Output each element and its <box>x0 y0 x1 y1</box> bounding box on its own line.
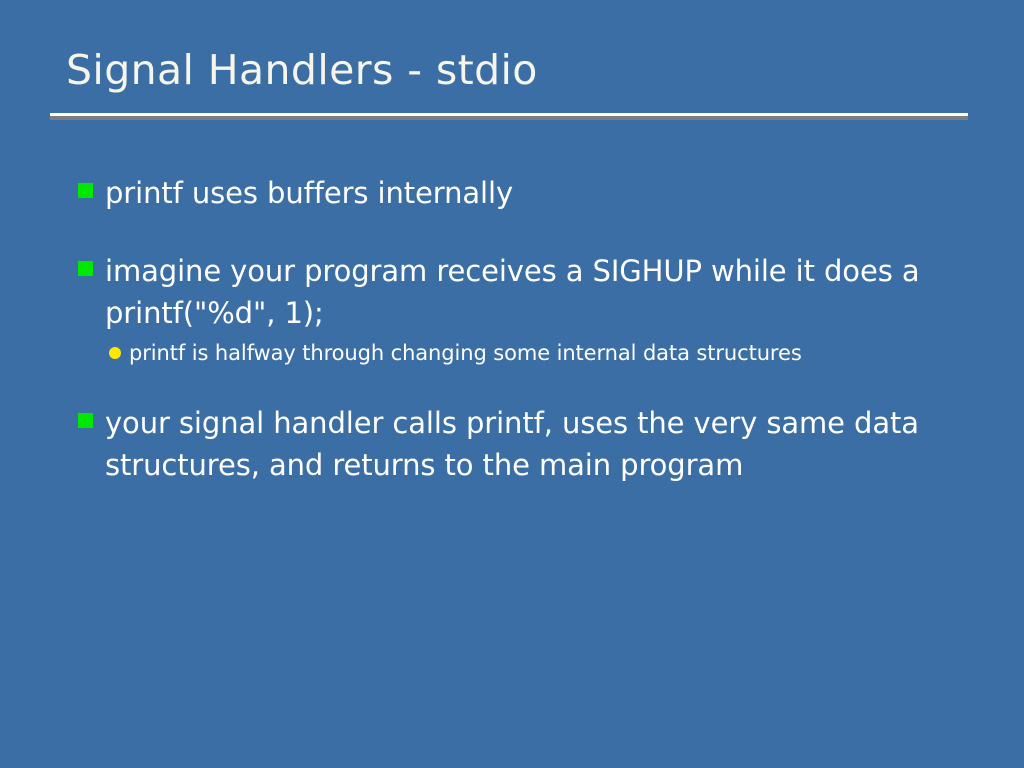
slide-body: printf uses buffers internally imagine y… <box>78 172 958 486</box>
bullet-text: imagine your program receives a SIGHUP w… <box>105 250 958 334</box>
page-title: Signal Handlers - stdio <box>50 48 970 94</box>
title-block: Signal Handlers - stdio <box>50 48 970 94</box>
list-item-sub: printf is halfway through changing some … <box>109 338 958 368</box>
bullet-text: printf uses buffers internally <box>105 172 513 214</box>
list-item: your signal handler calls printf, uses t… <box>78 402 958 486</box>
list-item: imagine your program receives a SIGHUP w… <box>78 250 958 334</box>
green-square-bullet-icon <box>78 183 93 198</box>
green-square-bullet-icon <box>78 413 93 428</box>
title-underline-shadow <box>50 116 968 120</box>
bullet-text: printf is halfway through changing some … <box>129 338 802 368</box>
bullet-text: your signal handler calls printf, uses t… <box>105 402 958 486</box>
presentation-slide: Signal Handlers - stdio printf uses buff… <box>0 0 1024 768</box>
green-square-bullet-icon <box>78 261 93 276</box>
yellow-dot-bullet-icon <box>109 347 121 359</box>
list-item: printf uses buffers internally <box>78 172 958 214</box>
